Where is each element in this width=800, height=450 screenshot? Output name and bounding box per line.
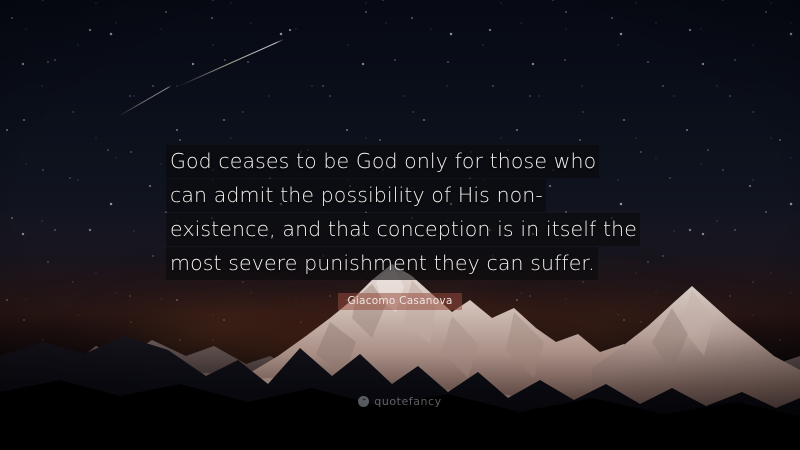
- quote-line: existence, and that conception is in its…: [166, 213, 640, 246]
- brand-label: quotefancy: [374, 395, 441, 408]
- quote-text-block: God ceases to be God only for those who …: [166, 145, 640, 281]
- quotefancy-watermark[interactable]: ❝ quotefancy: [0, 395, 800, 408]
- quote-mark-icon: ❝: [358, 396, 369, 407]
- quote-image-canvas: God ceases to be God only for those who …: [0, 0, 800, 450]
- author-attribution: Giacomo Casanova: [0, 289, 800, 310]
- quote-line: can admit the possibility of His non-: [166, 179, 546, 212]
- quote-line: God ceases to be God only for those who: [166, 145, 599, 178]
- quote-line: most severe punishment they can suffer.: [166, 247, 598, 280]
- author-name: Giacomo Casanova: [338, 293, 461, 310]
